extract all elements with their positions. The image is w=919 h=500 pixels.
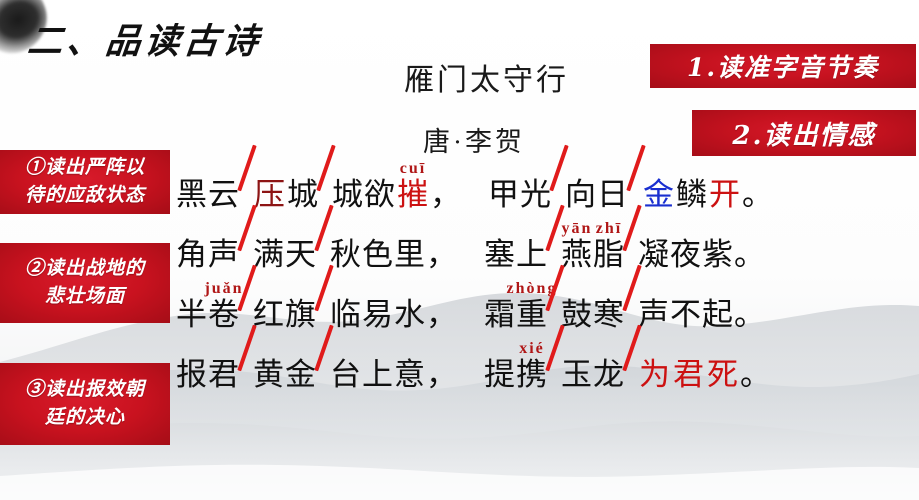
poem-char: 起	[702, 288, 734, 342]
goal-3-line-1: ③读出报效朝	[25, 376, 145, 404]
poem-punct: ，	[426, 348, 458, 402]
poem-char: 台	[330, 348, 362, 402]
poem-char: 报	[176, 348, 208, 402]
poem-punct: 。	[734, 288, 766, 342]
poem-char: 旗	[285, 288, 317, 342]
poem-punct: ，	[430, 168, 462, 222]
poem-char: 金	[285, 348, 317, 402]
poem-char: 死	[706, 348, 740, 402]
rhythm-slash-icon	[317, 354, 330, 385]
poem-char: 君	[672, 348, 706, 402]
rhythm-slash-icon	[317, 234, 330, 265]
slide-canvas: 二、品读古诗 雁门太守行 唐·李贺 1.读准字音节奏 2.读出情感 ①读出严阵以…	[0, 0, 919, 500]
poem-char: 云	[208, 168, 240, 222]
poem-char: 城	[332, 168, 364, 222]
rhythm-slash-icon	[629, 174, 642, 205]
poem-char: 欲	[364, 168, 396, 222]
poem-char: 紫	[702, 228, 734, 282]
rhythm-slash-icon	[625, 234, 638, 265]
poem-char: 水	[394, 288, 426, 342]
goal-3-line-2: 廷的决心	[45, 404, 125, 432]
poem-char: 色	[362, 228, 394, 282]
rhythm-slash-icon	[240, 234, 253, 265]
poem-char: 城	[287, 168, 319, 222]
poem-char: 夜	[670, 228, 702, 282]
poem-body: 黑云压城城欲cuī摧，甲光向日金鳞开。 角声满天秋色里，塞上yān燕zhī脂凝夜…	[176, 168, 916, 408]
rhythm-slash-icon	[552, 174, 565, 205]
poem-char: 君	[208, 348, 240, 402]
poem-char: 临	[330, 288, 362, 342]
poem-char-annotated: yān燕	[561, 228, 593, 282]
rhythm-slash-icon	[625, 354, 638, 385]
banner-read-emotion[interactable]: 2.读出情感	[692, 110, 916, 156]
rhythm-slash-icon	[240, 354, 253, 385]
poem-char-annotated: cuī摧	[396, 168, 430, 222]
rhythm-slash-icon	[548, 234, 561, 265]
poem-punct: 。	[734, 228, 766, 282]
poem-char: 黄	[253, 348, 285, 402]
poem-punct: 。	[740, 348, 772, 402]
poem-punct: ，	[426, 228, 458, 282]
poem-line-3: 半juǎn卷红旗临易水，霜zhòng重鼓寒声不起。	[176, 288, 916, 348]
pinyin-xie: xié	[519, 322, 545, 376]
rhythm-slash-icon	[548, 354, 561, 385]
page-title: 二、品读古诗	[25, 13, 264, 64]
rhythm-slash-icon	[548, 294, 561, 325]
poem-char: 不	[670, 288, 702, 342]
poem-char: 金	[642, 168, 676, 222]
poem-char: 玉	[561, 348, 593, 402]
goal-2-line-1: ②读出战地的	[25, 255, 145, 283]
poem-char: 声	[638, 288, 670, 342]
rhythm-slash-icon	[240, 294, 253, 325]
poem-char: 满	[253, 228, 285, 282]
poem-line-4: 报君黄金台上意，提xié携玉龙为君死。	[176, 348, 916, 408]
rhythm-slash-icon	[317, 294, 330, 325]
poem-char-annotated: xié携	[516, 348, 548, 402]
rhythm-slash-icon	[319, 174, 332, 205]
pinyin-cui: cuī	[400, 142, 426, 196]
poem-char: 里	[394, 228, 426, 282]
goal-1-line-2: 待的应敌状态	[25, 182, 145, 210]
poem-char: 黑	[176, 168, 208, 222]
poem-line-1: 黑云压城城欲cuī摧，甲光向日金鳞开。	[176, 168, 916, 228]
pinyin-yan: yān	[562, 202, 593, 256]
poem-char: 鼓	[561, 288, 593, 342]
poem-char: 压	[253, 168, 287, 222]
poem-char-annotated: zhī脂	[593, 228, 625, 282]
poem-char: 鳞	[676, 168, 708, 222]
poem-char: 半	[176, 288, 208, 342]
poem-char: 开	[708, 168, 742, 222]
pinyin-zhi: zhī	[596, 202, 622, 256]
poem-char-annotated: juǎn卷	[208, 288, 240, 342]
poem-char: 秋	[330, 228, 362, 282]
goal-box-1[interactable]: ①读出严阵以 待的应敌状态	[0, 150, 170, 214]
poem-punct: 。	[742, 168, 774, 222]
poem-char: 易	[362, 288, 394, 342]
poem-char: 光	[520, 168, 552, 222]
poem-char: 寒	[593, 288, 625, 342]
banner-read-pronunciation-rhythm[interactable]: 1.读准字音节奏	[650, 44, 916, 88]
poem-char: 凝	[638, 228, 670, 282]
poem-punct: ，	[426, 288, 458, 342]
poem-char: 意	[394, 348, 426, 402]
rhythm-slash-icon	[625, 294, 638, 325]
goal-1-line-1: ①读出严阵以	[25, 154, 145, 182]
poem-char: 提	[484, 348, 516, 402]
goal-2-line-2: 悲壮场面	[45, 283, 125, 311]
poem-char: 甲	[488, 168, 520, 222]
goal-box-3[interactable]: ③读出报效朝 廷的决心	[0, 363, 170, 445]
poem-char: 上	[362, 348, 394, 402]
poem-author: 唐·李贺	[423, 120, 525, 159]
poem-title: 雁门太守行	[404, 55, 569, 99]
poem-char: 红	[253, 288, 285, 342]
poem-char: 为	[638, 348, 672, 402]
poem-char: 天	[285, 228, 317, 282]
poem-char: 龙	[593, 348, 625, 402]
goal-box-2[interactable]: ②读出战地的 悲壮场面	[0, 243, 170, 323]
poem-char: 角	[176, 228, 208, 282]
rhythm-slash-icon	[240, 174, 253, 205]
